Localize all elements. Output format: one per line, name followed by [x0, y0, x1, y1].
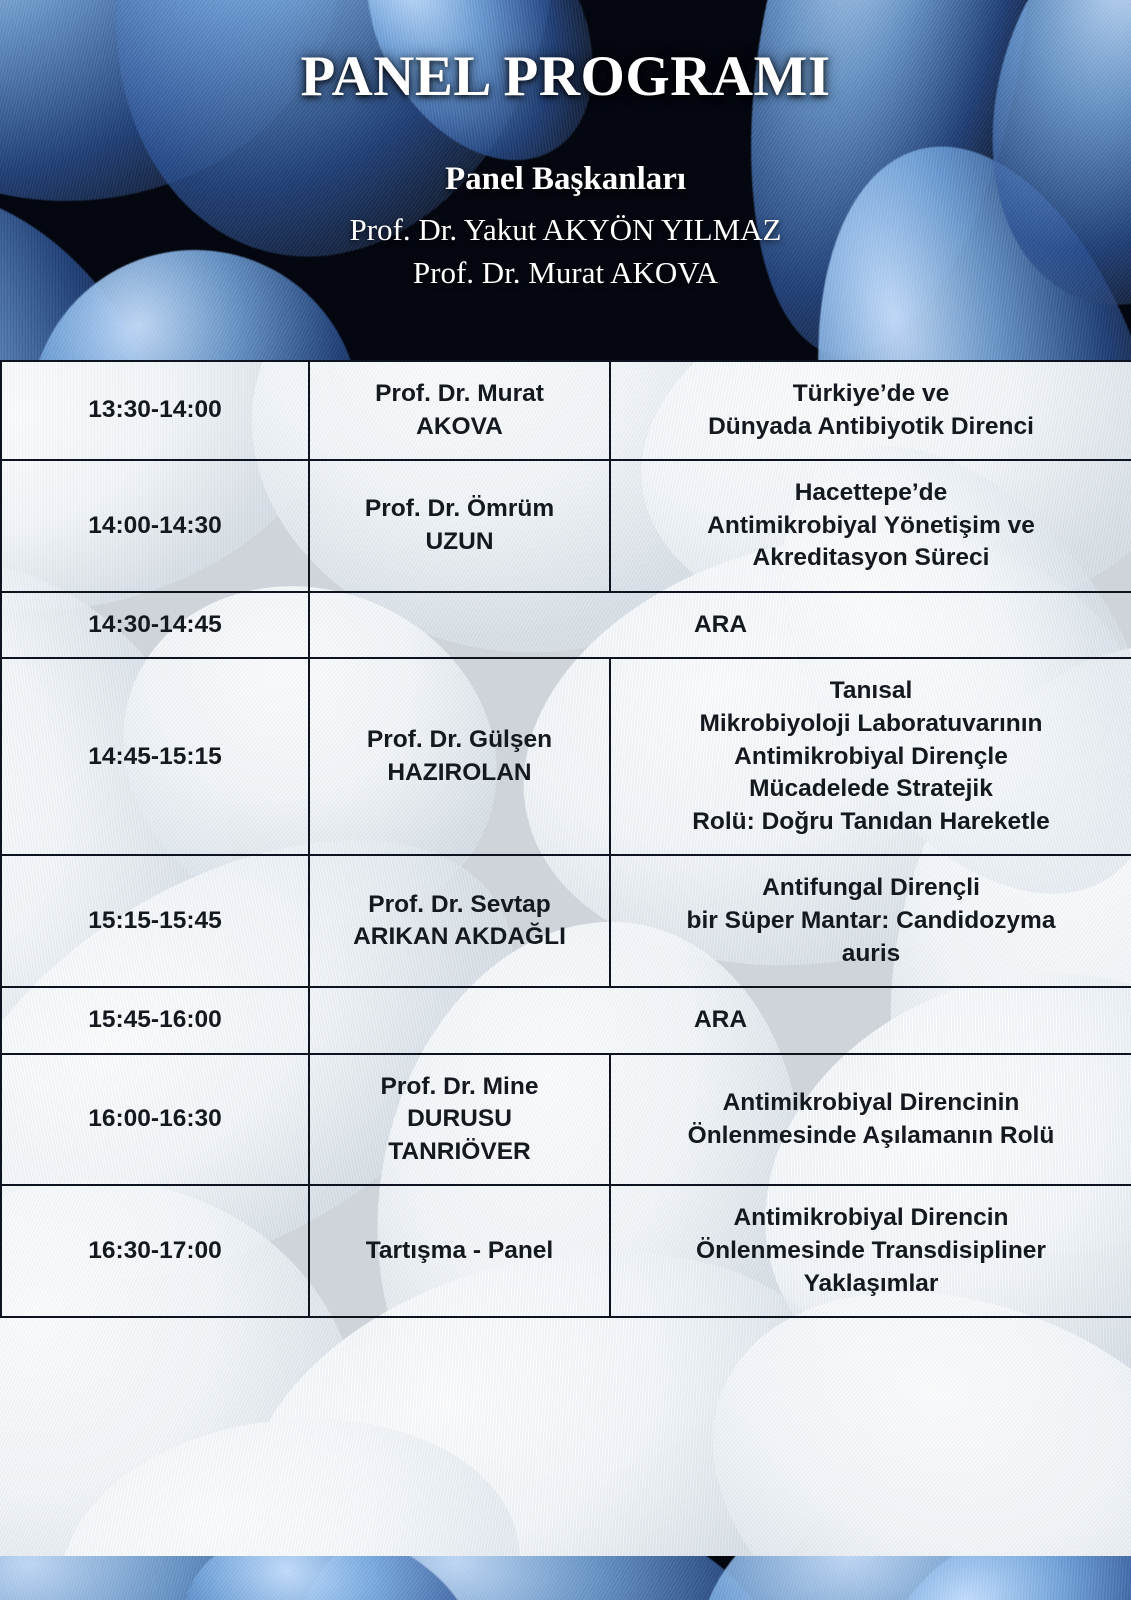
speaker-line: Prof. Dr. Gülşen [318, 724, 601, 757]
topic-line: Mikrobiyoloji Laboratuvarının [619, 708, 1123, 741]
topic-line: Önlenmesinde Aşılamanın Rolü [619, 1120, 1123, 1153]
table-row: 15:45-16:00ARA [1, 987, 1131, 1054]
schedule-break-cell: ARA [309, 987, 1131, 1054]
panel-chairs-heading: Panel Başkanları [0, 161, 1131, 197]
topic-line: bir Süper Mantar: Candidozyma [619, 905, 1123, 938]
topic-line: Tanısal [619, 675, 1123, 708]
speaker-line: DURUSU [318, 1103, 601, 1136]
topic-line: Dünyada Antibiyotik Direnci [619, 411, 1123, 444]
schedule-topic-cell: Antimikrobiyal DirencinÖnlenmesinde Tran… [610, 1185, 1131, 1317]
schedule-time-cell: 14:30-14:45 [1, 592, 309, 659]
speaker-line: ARIKAN AKDAĞLI [318, 921, 601, 954]
topic-line: auris [619, 938, 1123, 971]
topic-line: Antimikrobiyal Yönetişim ve [619, 510, 1123, 543]
speaker-line: Prof. Dr. Mine [318, 1071, 601, 1104]
topic-line: Hacettepe’de [619, 477, 1123, 510]
table-row: 16:30-17:00Tartışma - PanelAntimikrobiya… [1, 1185, 1131, 1317]
schedule-speaker-cell: Prof. Dr. GülşenHAZIROLAN [309, 658, 610, 855]
schedule-section: 13:30-14:00Prof. Dr. MuratAKOVATürkiye’d… [0, 360, 1131, 1556]
schedule-speaker-cell: Prof. Dr. SevtapARIKAN AKDAĞLI [309, 855, 610, 987]
table-row: 14:00-14:30Prof. Dr. ÖmrümUZUNHacettepe’… [1, 460, 1131, 592]
speaker-line: Prof. Dr. Ömrüm [318, 493, 601, 526]
speaker-line: TANRIÖVER [318, 1136, 601, 1169]
topic-line: Antimikrobiyal Dirençle [619, 741, 1123, 774]
topic-line: Önlenmesinde Transdisipliner [619, 1235, 1123, 1268]
panel-program-poster: PANEL PROGRAMI Panel Başkanları Prof. Dr… [0, 0, 1131, 1600]
schedule-topic-cell: Türkiye’de veDünyada Antibiyotik Direnci [610, 361, 1131, 460]
panel-chair-1: Prof. Dr. Yakut AKYÖN YILMAZ [0, 209, 1131, 252]
schedule-time-cell: 14:45-15:15 [1, 658, 309, 855]
schedule-time-cell: 15:15-15:45 [1, 855, 309, 987]
schedule-topic-cell: Antimikrobiyal DirencininÖnlenmesinde Aş… [610, 1054, 1131, 1186]
schedule-topic-cell: TanısalMikrobiyoloji LaboratuvarınınAnti… [610, 658, 1131, 855]
topic-line: Antifungal Dirençli [619, 872, 1123, 905]
table-row: 13:30-14:00Prof. Dr. MuratAKOVATürkiye’d… [1, 361, 1131, 460]
schedule-speaker-cell: Prof. Dr. ÖmrümUZUN [309, 460, 610, 592]
speaker-line: Prof. Dr. Murat [318, 378, 601, 411]
schedule-time-cell: 14:00-14:30 [1, 460, 309, 592]
table-row: 14:45-15:15Prof. Dr. GülşenHAZIROLANTanı… [1, 658, 1131, 855]
topic-line: Akreditasyon Süreci [619, 542, 1123, 575]
panel-chair-2: Prof. Dr. Murat AKOVA [0, 252, 1131, 295]
table-row: 15:15-15:45Prof. Dr. SevtapARIKAN AKDAĞL… [1, 855, 1131, 987]
poster-header: PANEL PROGRAMI Panel Başkanları Prof. Dr… [0, 0, 1131, 360]
topic-line: Yaklaşımlar [619, 1268, 1123, 1301]
schedule-break-cell: ARA [309, 592, 1131, 659]
schedule-speaker-cell: Prof. Dr. MuratAKOVA [309, 361, 610, 460]
speaker-line: Prof. Dr. Sevtap [318, 889, 601, 922]
schedule-time-cell: 16:00-16:30 [1, 1054, 309, 1186]
topic-line: Türkiye’de ve [619, 378, 1123, 411]
panel-schedule-table: 13:30-14:00Prof. Dr. MuratAKOVATürkiye’d… [0, 360, 1131, 1318]
topic-line: Mücadelede Stratejik [619, 773, 1123, 806]
table-row: 16:00-16:30Prof. Dr. MineDURUSUTANRIÖVER… [1, 1054, 1131, 1186]
schedule-time-cell: 15:45-16:00 [1, 987, 309, 1054]
schedule-time-cell: 16:30-17:00 [1, 1185, 309, 1317]
speaker-line: UZUN [318, 526, 601, 559]
topic-line: Antimikrobiyal Direncin [619, 1202, 1123, 1235]
page-title: PANEL PROGRAMI [0, 0, 1131, 105]
speaker-line: Tartışma - Panel [318, 1235, 601, 1268]
schedule-time-cell: 13:30-14:00 [1, 361, 309, 460]
table-row: 14:30-14:45ARA [1, 592, 1131, 659]
speaker-line: HAZIROLAN [318, 757, 601, 790]
schedule-speaker-cell: Tartışma - Panel [309, 1185, 610, 1317]
schedule-topic-cell: Hacettepe’deAntimikrobiyal Yönetişim veA… [610, 460, 1131, 592]
schedule-speaker-cell: Prof. Dr. MineDURUSUTANRIÖVER [309, 1054, 610, 1186]
topic-line: Rolü: Doğru Tanıdan Hareketle [619, 806, 1123, 839]
topic-line: Antimikrobiyal Direncinin [619, 1087, 1123, 1120]
speaker-line: AKOVA [318, 411, 601, 444]
schedule-topic-cell: Antifungal Dirençlibir Süper Mantar: Can… [610, 855, 1131, 987]
